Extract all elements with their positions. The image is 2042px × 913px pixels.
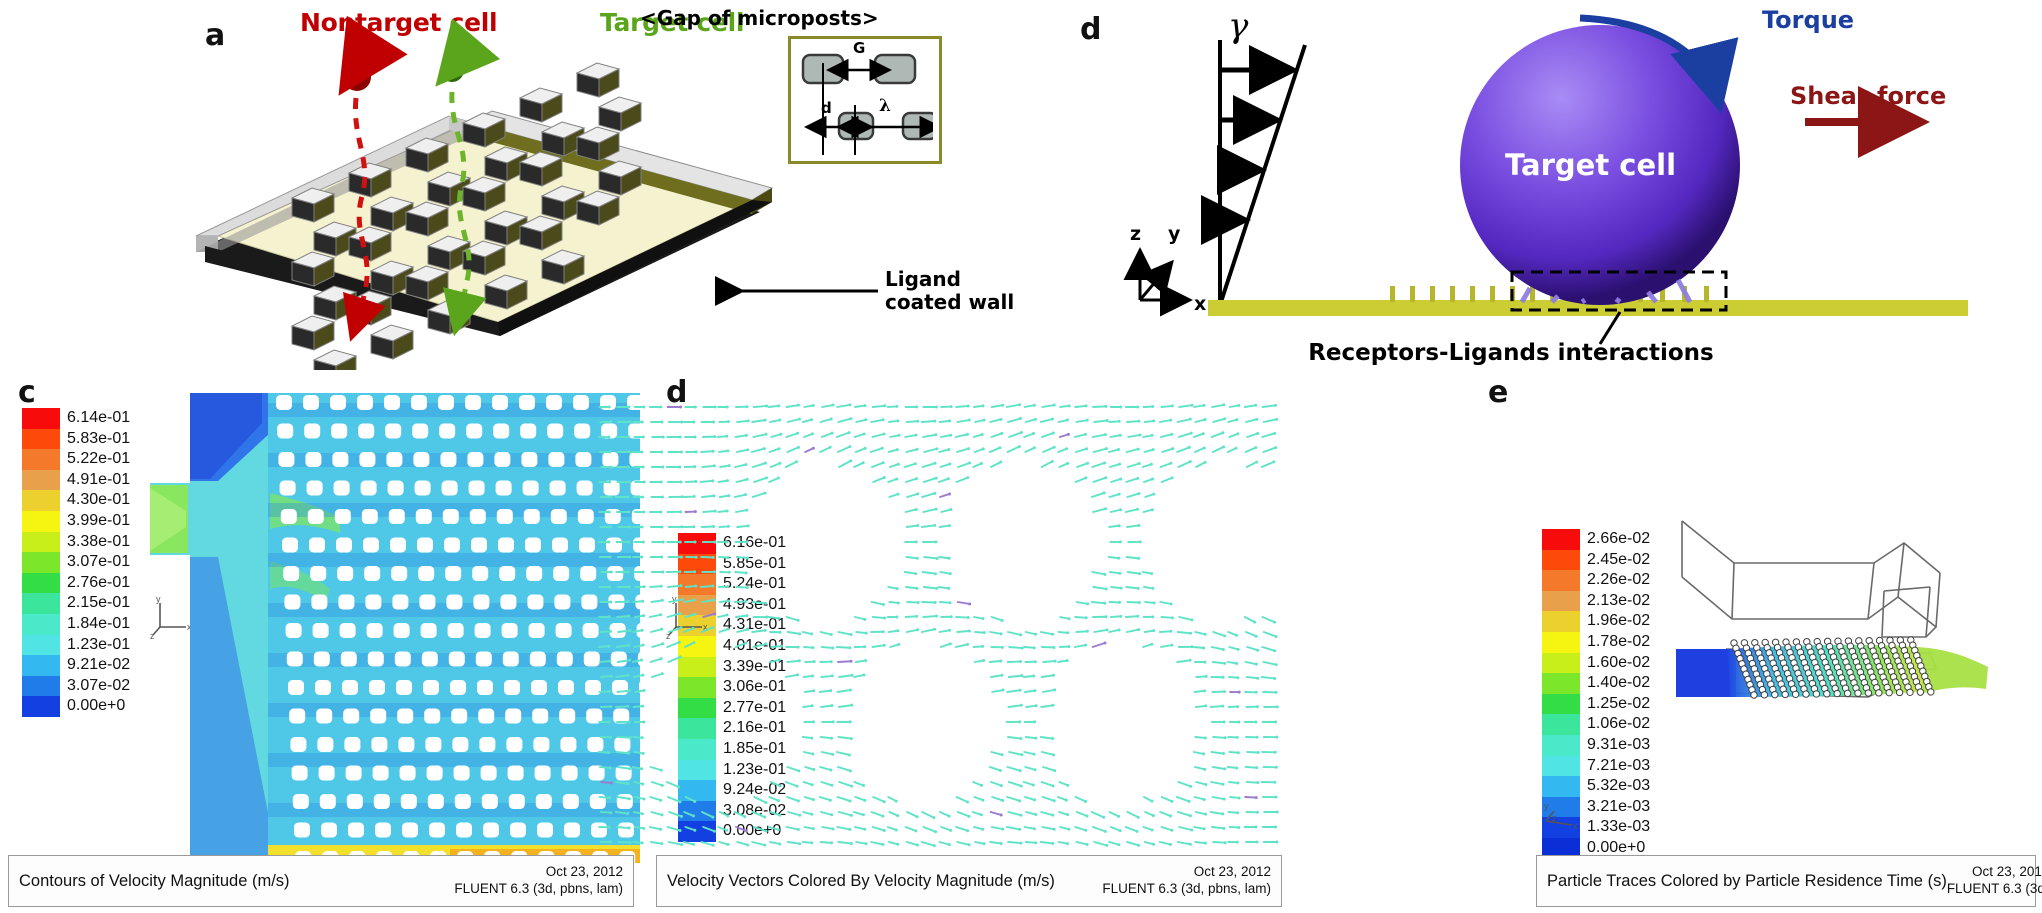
colorbar-tick-label: 7.21e-03: [1587, 756, 1650, 777]
colorbar-tick-label: 0.00e+0: [67, 696, 125, 717]
caption-title-e: Particle Traces Colored by Particle Resi…: [1547, 872, 1947, 891]
axis-label-y: y: [1168, 223, 1181, 245]
colorbar-swatch: [22, 635, 60, 656]
colorbar-entry: 6.14e-01: [22, 408, 130, 429]
panel-b: d: [1060, 0, 2042, 370]
colorbar-entry: 7.21e-03: [1542, 756, 1650, 777]
colorbar-tick-label: 1.60e-02: [1587, 653, 1650, 674]
caption-title-d: Velocity Vectors Colored By Velocity Mag…: [667, 872, 1055, 891]
colorbar-tick-label: 2.76e-01: [67, 573, 130, 594]
colorbar-entry: 5.32e-03: [1542, 776, 1650, 797]
ligand-coated-wall-label: Ligand coated wall: [885, 268, 1014, 314]
colorbar-swatch: [22, 614, 60, 635]
torque-label: Torque: [1762, 6, 1854, 34]
colorbar-entry: 1.25e-02: [1542, 694, 1650, 715]
colorbar-tick-label: 4.91e-01: [67, 470, 130, 491]
colorbar-tick-label: 1.06e-02: [1587, 714, 1650, 735]
colorbar-entry: 3.07e-02: [22, 676, 130, 697]
panel-c: c 6.14e-015.83e-015.22e-014.91e-014.30e-…: [0, 365, 640, 913]
colorbar-entry: 4.91e-01: [22, 470, 130, 491]
colorbar-swatch: [1542, 756, 1580, 777]
axis-triad-e: y z x: [1536, 795, 1582, 841]
caption-meta-e: Oct 23, 2012 FLUENT 6.3 (3d): [1947, 864, 2042, 898]
axis-label-z: z: [1130, 223, 1141, 245]
colorbar-tick-label: 2.45e-02: [1587, 550, 1650, 571]
colorbar-swatch: [1542, 653, 1580, 674]
shear-rate-gamma-label: γ: [1228, 6, 1248, 46]
colorbar-swatch: [22, 532, 60, 553]
colorbar-entry: 1.23e-01: [22, 635, 130, 656]
colorbar-tick-label: 5.32e-03: [1587, 776, 1650, 797]
caption-solver-d: FLUENT 6.3 (3d, pbns, lam): [1102, 881, 1271, 896]
colorbar-swatch: [1542, 735, 1580, 756]
gap-of-microposts-title: <Gap of microposts>: [640, 6, 879, 30]
colorbar-swatch: [22, 573, 60, 594]
panel-d: d 6.16e-015.85e-015.24e-014.93e-014.31e-…: [648, 365, 1288, 913]
colorbar-entry: 2.76e-01: [22, 573, 130, 594]
caption-solver-e: FLUENT 6.3 (3d): [1947, 881, 2042, 896]
panel-c-letter: c: [18, 375, 36, 410]
caption-solver-c: FLUENT 6.3 (3d, pbns, lam): [454, 881, 623, 896]
colorbar-entry: 4.30e-01: [22, 490, 130, 511]
colorbar-entry: 5.22e-01: [22, 449, 130, 470]
colorbar-tick-label: 2.26e-02: [1587, 570, 1650, 591]
colorbar-tick-label: 1.23e-01: [67, 635, 130, 656]
colorbar-swatch: [1542, 591, 1580, 612]
colorbar-entry: 3.07e-01: [22, 552, 130, 573]
colorbar-swatch: [22, 676, 60, 697]
colorbar-entry: 9.21e-02: [22, 655, 130, 676]
svg-text:y: y: [1544, 801, 1549, 811]
colorbar-swatch: [22, 408, 60, 429]
caption-meta-c: Oct 23, 2012 FLUENT 6.3 (3d, pbns, lam): [454, 864, 623, 898]
caption-title-c: Contours of Velocity Magnitude (m/s): [19, 872, 290, 891]
colorbar-tick-label: 3.38e-01: [67, 532, 130, 553]
svg-text:x: x: [1573, 821, 1578, 831]
colorbar-entry: 1.78e-02: [1542, 632, 1650, 653]
colorbar-swatch: [1542, 776, 1580, 797]
colorbar-swatch: [1542, 673, 1580, 694]
colorbar-entry: 9.31e-03: [1542, 735, 1650, 756]
caption-date-d: Oct 23, 2012: [1194, 864, 1271, 879]
colorbar-tick-label: 4.30e-01: [67, 490, 130, 511]
gap-of-microposts-inset: G d λ: [788, 36, 942, 164]
colorbar-panel-c: 6.14e-015.83e-015.22e-014.91e-014.30e-01…: [22, 408, 130, 717]
colorbar-entry: 1.40e-02: [1542, 673, 1650, 694]
colorbar-swatch: [1542, 611, 1580, 632]
colorbar-swatch: [1542, 529, 1580, 550]
colorbar-tick-label: 2.15e-01: [67, 593, 130, 614]
colorbar-entry: 2.26e-02: [1542, 570, 1650, 591]
colorbar-swatch: [1542, 632, 1580, 653]
caption-date-e: Oct 23, 2012: [1972, 864, 2042, 879]
shear-flow-cell-illustration: z y x: [1060, 0, 2042, 370]
colorbar-swatch: [22, 449, 60, 470]
colorbar-tick-label: 3.07e-01: [67, 552, 130, 573]
colorbar-entry: 2.15e-01: [22, 593, 130, 614]
colorbar-tick-label: 2.13e-02: [1587, 591, 1650, 612]
panel-a: a Nontarget cell Target cell: [0, 0, 1060, 370]
colorbar-entry: 1.84e-01: [22, 614, 130, 635]
colorbar-tick-label: 5.83e-01: [67, 429, 130, 450]
colorbar-tick-label: 5.22e-01: [67, 449, 130, 470]
colorbar-tick-label: 6.14e-01: [67, 408, 130, 429]
colorbar-tick-label: 1.40e-02: [1587, 673, 1650, 694]
colorbar-swatch: [1542, 694, 1580, 715]
colorbar-entry: 0.00e+0: [22, 696, 130, 717]
shear-force-label: Shear force: [1790, 82, 1946, 110]
velocity-vector-plot: [588, 393, 1288, 863]
colorbar-swatch: [22, 552, 60, 573]
panel-e-letter: e: [1488, 375, 1508, 410]
colorbar-tick-label: 1.78e-02: [1587, 632, 1650, 653]
colorbar-entry: 1.06e-02: [1542, 714, 1650, 735]
colorbar-swatch: [22, 470, 60, 491]
colorbar-tick-label: 3.21e-03: [1587, 797, 1650, 818]
colorbar-swatch: [22, 696, 60, 717]
colorbar-swatch: [22, 490, 60, 511]
colorbar-entry: 2.45e-02: [1542, 550, 1650, 571]
axis-label-x: x: [1194, 293, 1206, 315]
colorbar-swatch: [22, 511, 60, 532]
colorbar-entry: 1.96e-02: [1542, 611, 1650, 632]
colorbar-tick-label: 3.99e-01: [67, 511, 130, 532]
gap-symbol-lambda: λ: [879, 96, 891, 116]
gap-symbol-d: d: [821, 99, 832, 117]
caption-meta-d: Oct 23, 2012 FLUENT 6.3 (3d, pbns, lam): [1102, 864, 1271, 898]
ligand-label-line1: Ligand: [885, 268, 1014, 291]
colorbar-tick-label: 9.21e-02: [67, 655, 130, 676]
colorbar-swatch: [1542, 714, 1580, 735]
caption-bar-c: Contours of Velocity Magnitude (m/s) Oct…: [8, 855, 634, 907]
colorbar-entry: 1.60e-02: [1542, 653, 1650, 674]
colorbar-entry: 2.13e-02: [1542, 591, 1650, 612]
colorbar-tick-label: 3.07e-02: [67, 676, 130, 697]
colorbar-tick-label: 9.31e-03: [1587, 735, 1650, 756]
receptors-ligands-label: Receptors-Ligands interactions: [1020, 340, 2002, 366]
svg-text:z: z: [1552, 813, 1557, 823]
caption-bar-e: Particle Traces Colored by Particle Resi…: [1536, 855, 2036, 907]
colorbar-tick-label: 1.96e-02: [1587, 611, 1650, 632]
colorbar-entry: 5.83e-01: [22, 429, 130, 450]
panel-e: e 2.66e-022.45e-022.26e-022.13e-021.96e-…: [1288, 365, 2042, 913]
colorbar-entry: 3.38e-01: [22, 532, 130, 553]
colorbar-swatch: [22, 655, 60, 676]
colorbar-tick-label: 2.66e-02: [1587, 529, 1650, 550]
colorbar-entry: 3.99e-01: [22, 511, 130, 532]
colorbar-tick-label: 1.84e-01: [67, 614, 130, 635]
target-cell-label-b: Target cell: [1505, 148, 1676, 182]
colorbar-swatch: [22, 429, 60, 450]
gap-inset-diagram: G d λ: [791, 39, 933, 155]
ligand-label-line2: coated wall: [885, 291, 1014, 314]
colorbar-tick-label: 1.33e-03: [1587, 817, 1650, 838]
velocity-contour-plot: [150, 393, 640, 863]
caption-date-c: Oct 23, 2012: [546, 864, 623, 879]
caption-bar-d: Velocity Vectors Colored By Velocity Mag…: [656, 855, 1282, 907]
gap-symbol-G: G: [853, 39, 865, 57]
particle-traces-plot: [1668, 421, 2042, 841]
colorbar-tick-label: 1.25e-02: [1587, 694, 1650, 715]
colorbar-entry: 2.66e-02: [1542, 529, 1650, 550]
colorbar-swatch: [1542, 550, 1580, 571]
colorbar-swatch: [1542, 570, 1580, 591]
colorbar-swatch: [22, 593, 60, 614]
